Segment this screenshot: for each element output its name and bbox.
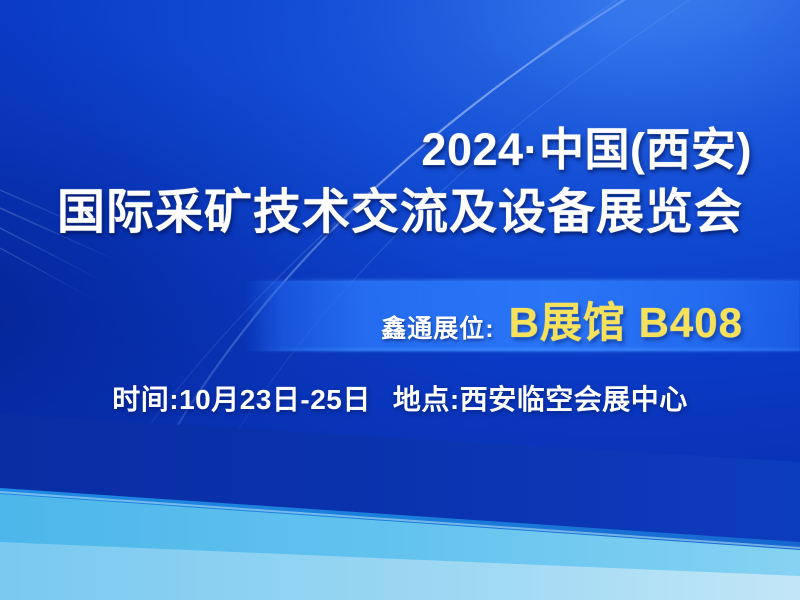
page-title-line-2: 国际采矿技术交流及设备展览会	[57, 184, 743, 242]
banner-content: 2024·中国(西安) 国际采矿技术交流及设备展览会 鑫通展位: B展馆 B40…	[0, 0, 800, 600]
event-date: 时间:10月23日-25日	[112, 378, 371, 418]
booth-label: 鑫通展位:	[381, 309, 494, 345]
page-title-line-1: 2024·中国(西安)	[421, 124, 752, 176]
booth-number: B展馆 B408	[509, 289, 743, 350]
event-venue: 地点:西安临空会展中心	[393, 378, 688, 418]
exhibition-banner: 2024·中国(西安) 国际采矿技术交流及设备展览会 鑫通展位: B展馆 B40…	[0, 0, 800, 600]
event-info-row: 时间:10月23日-25日 地点:西安临空会展中心	[112, 378, 687, 418]
booth-row: 鑫通展位: B展馆 B408	[381, 289, 743, 350]
